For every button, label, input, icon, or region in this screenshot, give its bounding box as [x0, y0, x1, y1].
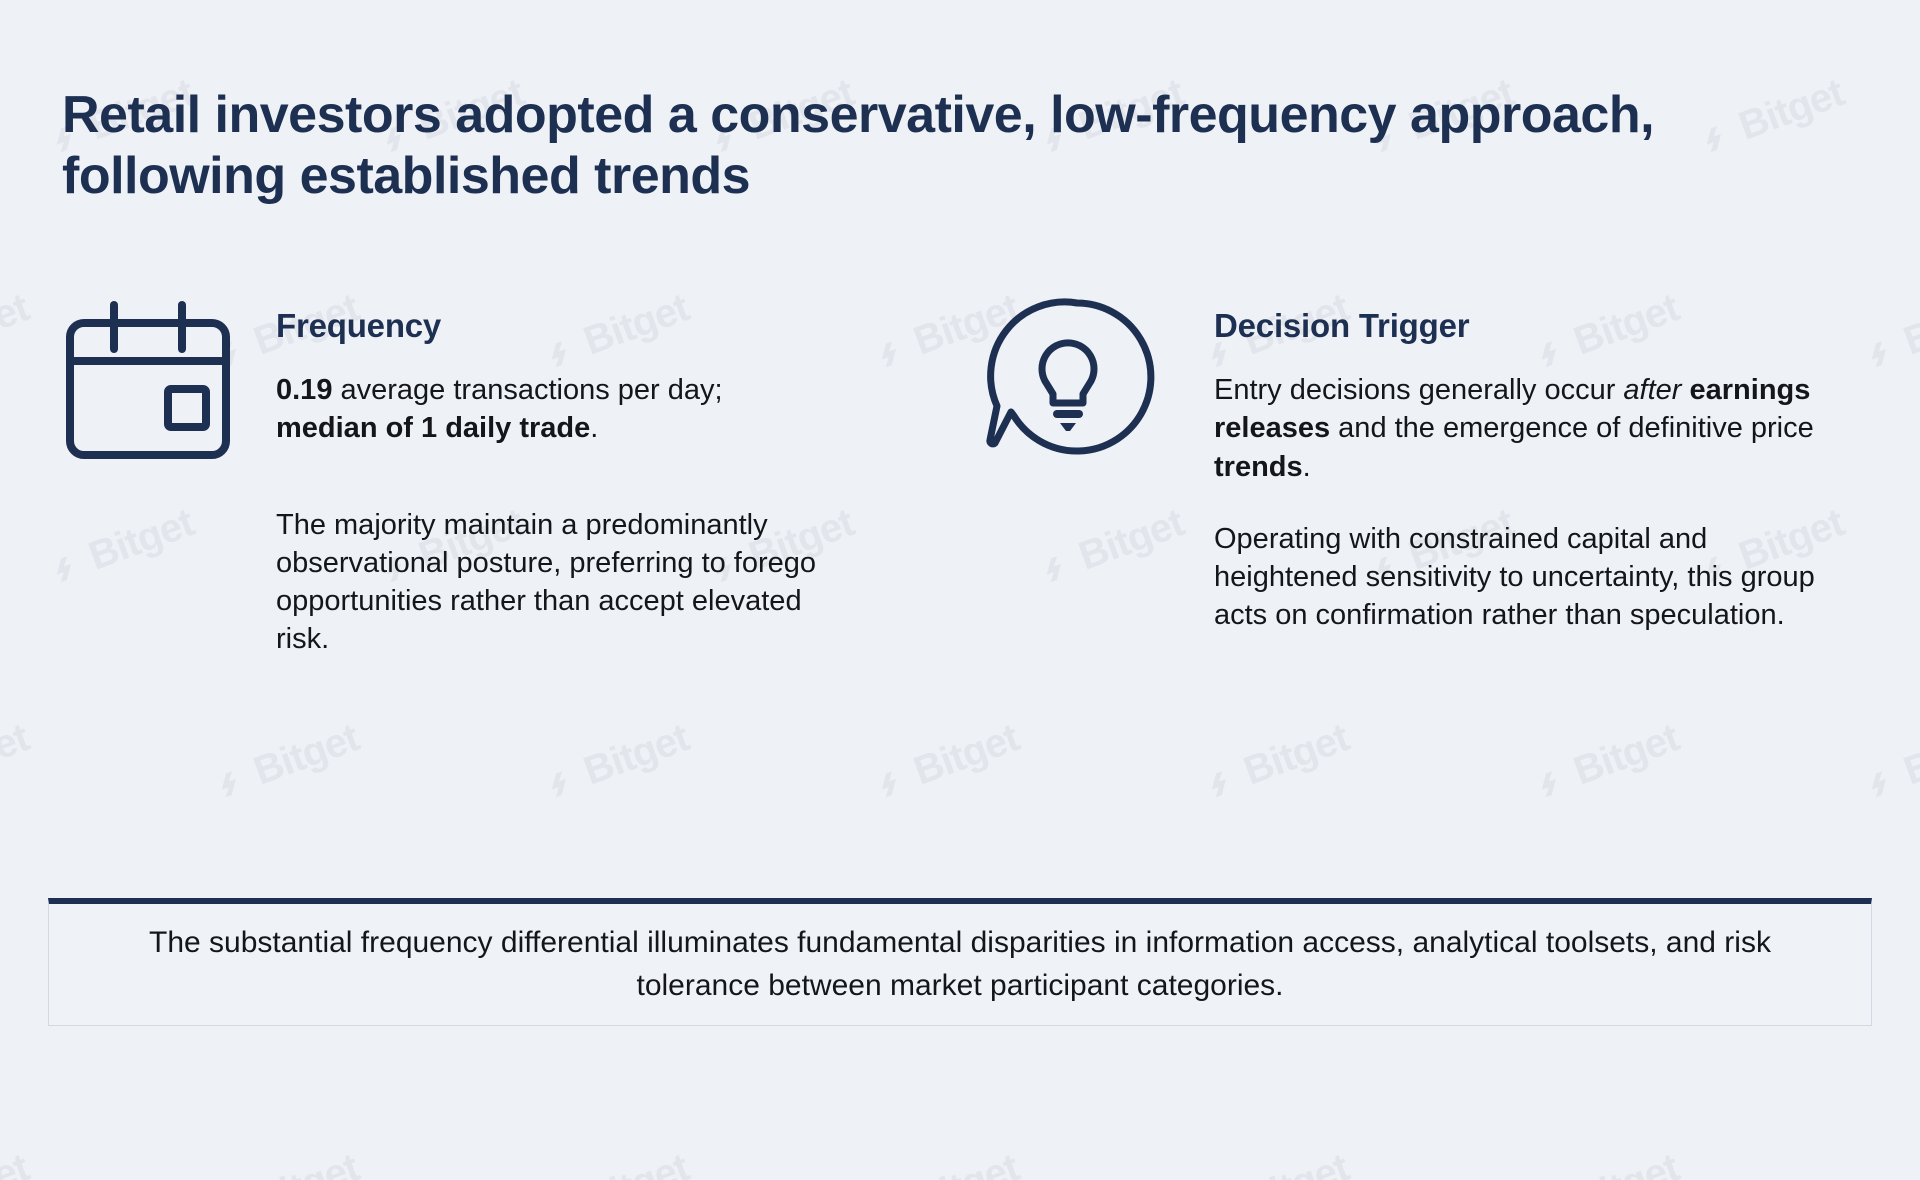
- decision-paragraph-1: Entry decisions generally occur after ea…: [1214, 371, 1834, 486]
- watermark-label: Bitget: [1568, 1145, 1684, 1180]
- watermark-label: Bitget: [908, 1145, 1024, 1180]
- watermark-bitget: Bitget: [1197, 1145, 1355, 1180]
- heading-decision-trigger: Decision Trigger: [1214, 307, 1854, 345]
- emphasis-italic: after: [1623, 374, 1681, 406]
- frequency-paragraph-2: The majority maintain a predominantly ob…: [276, 506, 856, 659]
- watermark-bitget: Bitget: [1527, 1145, 1685, 1180]
- watermark-label: Bitget: [0, 1145, 34, 1180]
- heading-frequency: Frequency: [276, 307, 900, 345]
- emphasis-bold: earnings releases: [1214, 374, 1810, 444]
- watermark-bitget: Bitget: [867, 1145, 1025, 1180]
- frequency-paragraph-1: 0.19 average transactions per day; media…: [276, 371, 816, 448]
- lightbulb-speech-bubble-icon: [980, 289, 1156, 465]
- watermark-bitget: Bitget: [0, 1145, 34, 1180]
- calendar-icon: [60, 289, 236, 465]
- section-decision-trigger: Decision Trigger Entry decisions general…: [980, 285, 1850, 635]
- emphasis-bold: 0.19: [276, 374, 332, 406]
- watermark-bitget: Bitget: [207, 1145, 365, 1180]
- page-title: Retail investors adopted a conservative,…: [62, 85, 1852, 208]
- watermark-label: Bitget: [248, 1145, 364, 1180]
- frequency-text-block: Frequency 0.19 average transactions per …: [236, 285, 900, 659]
- watermark-label: Bitget: [578, 1145, 694, 1180]
- watermark-label: Bitget: [1238, 1145, 1354, 1180]
- decision-text-block: Decision Trigger Entry decisions general…: [1156, 285, 1854, 635]
- emphasis-bold: trends: [1214, 451, 1303, 483]
- section-frequency: Frequency 0.19 average transactions per …: [60, 285, 900, 659]
- watermark-label: Bitget: [1898, 1145, 1920, 1180]
- watermark-bitget: Bitget: [1857, 1145, 1920, 1180]
- summary-callout: The substantial frequency differential i…: [48, 898, 1872, 1026]
- emphasis-bold: median of 1 daily trade: [276, 412, 590, 444]
- decision-paragraph-2: Operating with constrained capital and h…: [1214, 520, 1854, 635]
- infographic-page: Retail investors adopted a conservative,…: [0, 0, 1920, 1060]
- watermark-bitget: Bitget: [537, 1145, 695, 1180]
- summary-callout-text: The substantial frequency differential i…: [70, 922, 1850, 1007]
